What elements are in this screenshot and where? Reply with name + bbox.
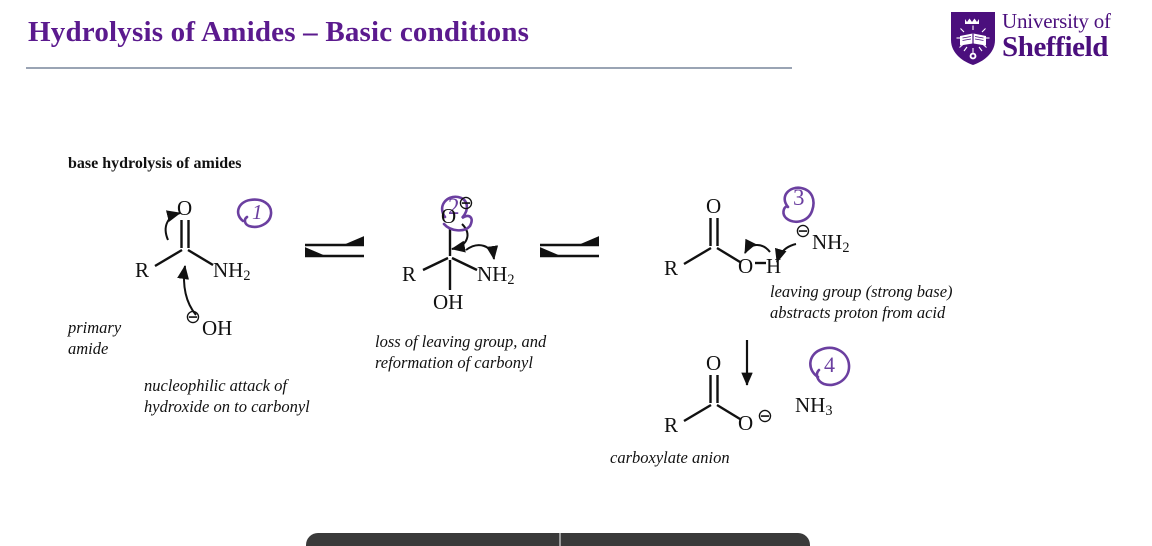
scheme-heading: base hydrolysis of amides — [68, 155, 242, 173]
logo-wordmark: University of Sheffield — [1002, 11, 1111, 62]
step-number-4: 4 — [824, 352, 835, 378]
step-number-1: 1 — [252, 200, 263, 225]
amide-bonds — [155, 220, 213, 266]
amide-anion-nh2: NH2 — [812, 230, 849, 257]
control-bar-divider — [559, 533, 561, 546]
sheffield-crest-icon — [950, 10, 996, 66]
presentation-control-bar[interactable] — [306, 533, 810, 546]
amide-r-group: R — [135, 258, 149, 283]
logo-line-sheffield: Sheffield — [1002, 33, 1111, 62]
acid-r-group: R — [664, 256, 678, 281]
tetrahedral-oh: OH — [433, 290, 463, 315]
caption-step-2: loss of leaving group, and reformation o… — [375, 332, 546, 373]
page-title: Hydrolysis of Amides – Basic conditions — [28, 16, 529, 49]
tetrahedral-nh2: NH2 — [477, 262, 514, 289]
acid-hydroxyl-hydrogen: H — [766, 254, 781, 279]
amide-anion-charge: ⊖ — [795, 220, 811, 243]
carboxylate-oxygen: O — [738, 411, 753, 436]
equilibrium-arrow-2 — [540, 245, 599, 256]
amide-nh2-text: NH — [213, 258, 243, 282]
caption-primary-amide-line1: primary — [68, 318, 121, 337]
carboxylate-r-group: R — [664, 413, 678, 438]
carboxylate-carbonyl-oxygen: O — [706, 351, 721, 376]
amide-carbonyl-oxygen: O — [177, 196, 192, 221]
acid-bonds — [684, 218, 766, 264]
tetrahedral-oxygen-charge: ⊖ — [458, 192, 474, 215]
step-number-3: 3 — [793, 185, 805, 211]
curly-arrow-cn-cleavage — [466, 245, 494, 259]
hydroxide-charge: ⊖ — [185, 306, 201, 329]
acid-carbonyl-oxygen: O — [706, 194, 721, 219]
ammonia-sub: 3 — [825, 403, 832, 419]
amide-anion-nh2-sub: 2 — [842, 240, 849, 256]
tetrahedral-nh2-text: NH — [477, 262, 507, 286]
amide-nh2: NH2 — [213, 258, 250, 285]
tetrahedral-oxygen: O — [441, 204, 456, 229]
ammonia-text: NH — [795, 393, 825, 417]
caption-primary-amide: primary amide — [68, 318, 121, 359]
slide-header: Hydrolysis of Amides – Basic conditions — [0, 0, 1152, 80]
caption-primary-amide-line2: amide — [68, 339, 108, 358]
caption-step-3-line1: leaving group (strong base) — [770, 282, 953, 301]
carboxylate-oxygen-charge: ⊖ — [757, 405, 773, 428]
curly-arrow-oh-deprotonation — [745, 245, 770, 253]
amide-nh2-sub: 2 — [243, 268, 250, 284]
ammonia-label: NH3 — [795, 393, 832, 420]
university-logo: University of Sheffield — [950, 8, 1140, 70]
title-divider — [26, 67, 792, 69]
caption-step-2-line2: reformation of carbonyl — [375, 353, 533, 372]
caption-product: carboxylate anion — [610, 448, 730, 469]
amide-anion-nh2-text: NH — [812, 230, 842, 254]
caption-step-1-line2: hydroxide on to carbonyl — [144, 397, 310, 416]
tetrahedral-r-group: R — [402, 262, 416, 287]
acid-hydroxyl-oxygen: O — [738, 254, 753, 279]
logo-line-university: University of — [1002, 11, 1111, 32]
caption-step-2-line1: loss of leaving group, and — [375, 332, 546, 351]
tetrahedral-nh2-sub: 2 — [507, 272, 514, 288]
caption-step-3: leaving group (strong base) abstracts pr… — [770, 282, 953, 323]
caption-step-3-line2: abstracts proton from acid — [770, 303, 945, 322]
carboxylate-bonds — [684, 375, 740, 421]
equilibrium-arrow-1 — [305, 245, 364, 256]
hydroxide-label: OH — [202, 316, 232, 341]
caption-step-1: nucleophilic attack of hydroxide on to c… — [144, 376, 310, 417]
reaction-scheme: base hydrolysis of amides — [0, 100, 1152, 500]
caption-step-1-line1: nucleophilic attack of — [144, 376, 287, 395]
tetrahedral-bonds — [423, 228, 477, 290]
